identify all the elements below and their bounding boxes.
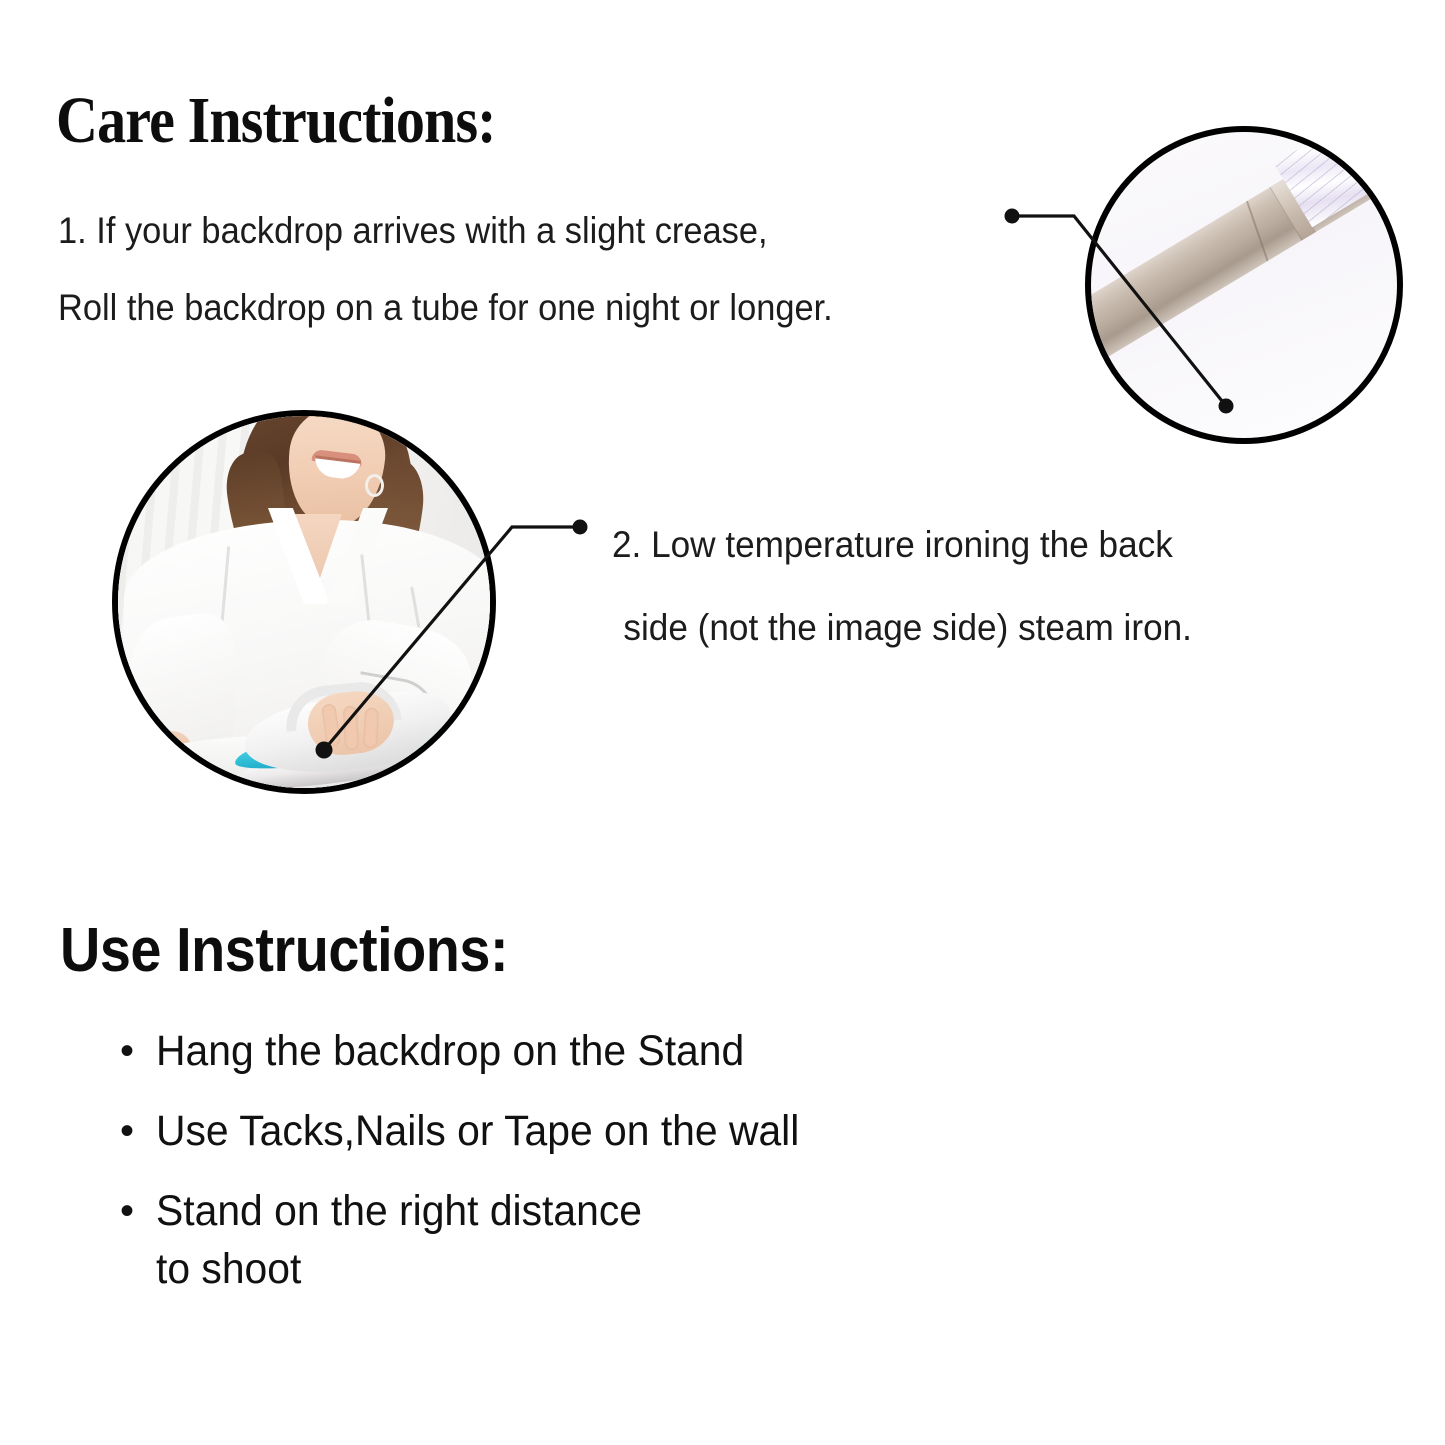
list-item: • Stand on the right distance to shoot — [120, 1182, 1120, 1298]
ironing-photo-content — [118, 416, 490, 788]
earring — [365, 474, 384, 497]
list-item-label: Use Tacks,Nails or Tape on the wall — [156, 1102, 1072, 1160]
cardboard-tube-photo — [1085, 126, 1403, 444]
care-step-2: 2. Low temperature ironing the back side… — [612, 503, 1372, 669]
care-instructions-heading: Care Instructions: — [56, 88, 496, 154]
care-step-2-line-1: 2. Low temperature ironing the back — [612, 503, 1334, 586]
use-instructions-heading: Use Instructions: — [60, 920, 508, 982]
care-step-1: 1. If your backdrop arrives with a sligh… — [58, 192, 1038, 346]
tube-photo-content — [1091, 132, 1397, 438]
list-item-label: Hang the backdrop on the Stand — [156, 1022, 1072, 1080]
care-step-2-line-2: side (not the image side) steam iron. — [612, 586, 1334, 669]
cardboard-tube-icon — [1085, 126, 1403, 376]
tube-seam — [1246, 201, 1268, 262]
care-step-1-line-2: Roll the backdrop on a tube for one nigh… — [58, 269, 969, 346]
list-item: • Hang the backdrop on the Stand — [120, 1022, 1120, 1080]
care-and-use-instructions-infographic: Care Instructions: 1. If your backdrop a… — [0, 0, 1445, 1445]
finger — [363, 708, 379, 749]
bullet-icon: • — [120, 1182, 156, 1240]
bullet-icon: • — [120, 1102, 156, 1160]
care-step-1-line-1: 1. If your backdrop arrives with a sligh… — [58, 192, 969, 269]
leader-dot-start — [573, 520, 588, 535]
list-item-label: Stand on the right distance to shoot — [156, 1182, 1072, 1298]
list-item: • Use Tacks,Nails or Tape on the wall — [120, 1102, 1120, 1160]
use-instructions-list: • Hang the backdrop on the Stand • Use T… — [120, 1022, 1120, 1320]
bullet-icon: • — [120, 1022, 156, 1080]
ironing-photo — [112, 410, 496, 794]
finger — [343, 706, 359, 751]
